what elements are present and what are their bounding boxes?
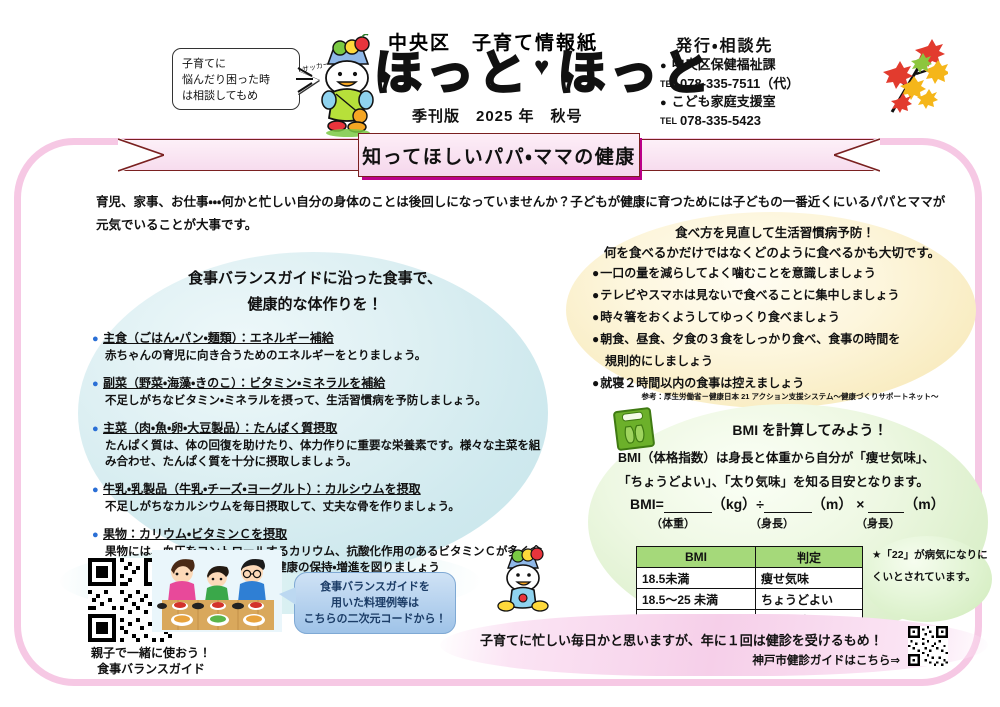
heart-icon: ♥: [530, 51, 557, 81]
contact-office-1-name: 中央区保健福祉課: [672, 57, 776, 72]
bmi-label-weight: （体重）: [630, 515, 716, 531]
section-ribbon: 知ってほしいパパ・ママの健康: [118, 133, 880, 177]
bmi-range-0: 18.5未満: [637, 568, 756, 589]
ribbon-notch-left-icon: [118, 137, 164, 173]
banner-title: 知ってほしいパパ・ママの健康: [362, 142, 636, 169]
food-item-head: ●主菜（肉・魚・卵・大豆製品）：たんぱく質摂取: [92, 420, 544, 438]
bmi-formula-labels: （体重）（身長）（身長）: [630, 515, 978, 531]
bmi-operator-multiply: ×: [856, 496, 864, 512]
food-guide-bubble-text: 食事バランスガイドを 用いた料理例等は こちらの二次元コードから！: [304, 579, 447, 627]
contact-title: 発行・相談先: [676, 32, 799, 56]
bullet-dot-icon: ●: [592, 288, 599, 302]
table-row: 18.5～25 未満 ちょうどよい: [637, 589, 863, 610]
duck-mascot-sitting-icon: [492, 546, 554, 618]
food-item-head: ●主食（ごはん・パン・麺類）：エネルギー補給: [92, 330, 544, 348]
eating-habits-lead: 何を食べるかだけではなくどのように食べるかも大切です。: [572, 242, 972, 261]
pin-icon: ●: [92, 421, 101, 438]
contact-tel-2-number: 078-335-5423: [680, 113, 761, 128]
eating-bullet-text: 朝食、昼食、夕食の３食をしっかり食べ、食事の時間を: [600, 332, 900, 346]
eating-bullet-text: 就寝２時間以内の食事は控えましょう: [600, 376, 804, 390]
family-meal-illustration: [152, 550, 282, 632]
bmi-unit-kg: （kg）: [712, 496, 756, 512]
pin-icon: ●: [92, 331, 101, 348]
bmi-title: BMI を計算してみよう！: [660, 420, 960, 440]
list-item: ●時々箸をおくようしてゆっくり食べましょう: [592, 306, 964, 328]
table-row: 18.5未満 痩せ気味: [637, 568, 863, 589]
telephone-icon: TEL: [660, 79, 677, 89]
contact-office-2-name: こども家庭支援室: [672, 94, 776, 109]
ribbon-center-panel: 知ってほしいパパ・ママの健康: [358, 133, 640, 177]
qr-caption-line2: 食事バランスガイド: [82, 661, 220, 677]
qr-caption: 親子で一緒に使おう！ 食事バランスガイド: [82, 645, 220, 677]
food-item-head: ●副菜（野菜・海藻・きのこ）：ビタミン・ミネラルを補給: [92, 375, 544, 393]
mascot-speech-bubble: 子育てに 悩んだり困った時 は相談してもめ: [172, 48, 300, 110]
food-item-body: 不足しがちなカルシウムを毎日摂取して、丈夫な骨を作りましょう。: [92, 499, 544, 515]
maple-leaves-icon: [878, 38, 948, 118]
bmi-formula-prefix: BMI=: [630, 496, 664, 512]
bmi-formula: BMI= （kg）÷ （m） × （m）: [630, 494, 970, 514]
mascot-speech-text: 子育てに 悩んだり困った時 は相談してもめ: [182, 56, 290, 104]
bottom-message: 子育てに忙しい毎日かと思いますが、年に１回は健診を受けるもめ！: [480, 630, 900, 649]
food-balance-title-line1: 食事バランスガイドに沿った食事で、: [100, 266, 530, 292]
contact-block: 発行・相談先 ●中央区保健福祉課 TEL078-335-7511（代） ●こども…: [660, 32, 799, 130]
bmi-note: ★「22」が病気になりにくいとされています。: [872, 544, 988, 588]
eating-bullet-text: 時々箸をおくようしてゆっくり食べましょう: [600, 310, 840, 324]
bmi-table-header-0: BMI: [637, 547, 756, 568]
food-balance-title-line2: 健康的な体作りを！: [100, 292, 530, 318]
bmi-judgment-1: ちょうどよい: [756, 589, 863, 610]
table-header-row: BMI 判定: [637, 547, 863, 568]
food-item-head-text: 主食（ごはん・パン・麺類）：エネルギー補給: [103, 331, 334, 345]
bmi-range-1: 18.5～25 未満: [637, 589, 756, 610]
eating-bullet-text: テレビやスマホは見ないで食べることに集中しましょう: [600, 288, 899, 302]
bmi-description: BMI（体格指数）は身長と体重から自分が「痩せ気味」、 「ちょうどよい」、「太り…: [618, 446, 974, 494]
food-item-body: たんぱく質は、体の回復を助けたり、体力作りに重要な栄養素です。様々な主菜を組み合…: [92, 438, 544, 470]
bmi-label-height1: （身長）: [716, 515, 828, 531]
list-item: ●一口の量を減らしてよく噛むことを意識しましょう: [592, 262, 964, 284]
bubble-line1: 食事バランスガイドを: [304, 579, 447, 595]
logo-left-text: ほっと: [374, 47, 530, 100]
contact-office-2: ●こども家庭支援室: [660, 93, 799, 112]
bmi-operator-divide: ÷: [756, 496, 764, 512]
bullet-dot-icon: ●: [592, 332, 599, 346]
food-item-head-text: 副菜（野菜・海藻・きのこ）：ビタミン・ミネラルを補給: [103, 376, 385, 390]
contact-tel-2: TEL078-335-5423: [660, 112, 799, 130]
bmi-desc-line2: 「ちょうどよい」、「太り気味」を知る目安となります。: [618, 470, 974, 494]
bmi-judgment-0: 痩せ気味: [756, 568, 863, 589]
food-item-head: ●果物：カリウム・ビタミンＣを摂取: [92, 526, 544, 544]
food-item-body: 赤ちゃんの育児に向き合うためのエネルギーをとりましょう。: [92, 348, 544, 364]
list-item: ●主菜（肉・魚・卵・大豆製品）：たんぱく質摂取 たんぱく質は、体の回復を助けたり…: [92, 420, 544, 470]
bmi-label-height2: （身長）: [828, 515, 928, 531]
food-item-head-text: 主菜（肉・魚・卵・大豆製品）：たんぱく質摂取: [103, 421, 337, 435]
pin-icon: ●: [92, 527, 101, 544]
food-item-head-text: 牛乳・乳製品（牛乳・チーズ・ヨーグルト）：カルシウムを摂取: [103, 482, 421, 496]
ribbon-notch-right-icon: [834, 137, 880, 173]
eating-habits-reference: 参考：厚生労働省－健康日本 21 アクション支援システム～健康づくりサポートネッ…: [620, 391, 960, 402]
bmi-unit-m-2: （m）: [904, 496, 944, 512]
pin-icon: ●: [92, 482, 101, 499]
contact-office-1: ●中央区保健福祉課: [660, 56, 799, 75]
food-item-body: 不足しがちなビタミン・ミネラルを摂って、生活習慣病を予防しましょう。: [92, 393, 544, 409]
list-item: ●副菜（野菜・海藻・きのこ）：ビタミン・ミネラルを補給 不足しがちなビタミン・ミ…: [92, 375, 544, 409]
eating-bullet-continuation: 規則的にしましょう: [592, 350, 964, 372]
bubble-line3: こちらの二次元コードから！: [304, 611, 447, 627]
eating-habits-title: 食べ方を見直して生活習慣病予防！: [600, 222, 950, 241]
food-item-head-text: 果物：カリウム・ビタミンＣを摂取: [103, 527, 287, 541]
bullet-dot-icon: ●: [592, 266, 599, 280]
speech-bubble-tail: [279, 587, 296, 605]
bottom-sub-message: 神戸市健診ガイドはこちら⇒: [480, 652, 900, 668]
contact-tel-1: TEL078-335-7511（代）: [660, 75, 799, 93]
bmi-height2-blank[interactable]: [868, 496, 904, 513]
issue-label: 季刊版 2025 年 秋号: [412, 105, 583, 126]
food-guide-speech-bubble: 食事バランスガイドを 用いた料理例等は こちらの二次元コードから！: [294, 572, 456, 634]
contact-tel-1-number: 078-335-7511（代）: [680, 76, 799, 91]
bullet-dot-icon: ●: [592, 376, 599, 390]
food-balance-title: 食事バランスガイドに沿った食事で、 健康的な体作りを！: [100, 266, 530, 318]
bmi-weight-blank[interactable]: [664, 496, 712, 513]
bmi-desc-line1: BMI（体格指数）は身長と体重から自分が「痩せ気味」、: [618, 446, 974, 470]
bullet-dot-icon: ●: [660, 97, 667, 109]
eating-bullet-text: 一口の量を減らしてよく噛むことを意識しましょう: [600, 266, 876, 280]
newsletter-page: 中央区 子育て情報紙 ほっと♥ほっと 季刊版 2025 年 秋号 子育てに 悩ん…: [0, 0, 1000, 707]
food-item-head: ●牛乳・乳製品（牛乳・チーズ・ヨーグルト）：カルシウムを摂取: [92, 481, 544, 499]
list-item: ●朝食、昼食、夕食の３食をしっかり食べ、食事の時間を: [592, 328, 964, 350]
duck-mascot-icon: [300, 34, 396, 138]
list-item: ●主食（ごはん・パン・麺類）：エネルギー補給 赤ちゃんの育児に向き合うためのエネ…: [92, 330, 544, 364]
list-item: ●テレビやスマホは見ないで食べることに集中しましょう: [592, 284, 964, 306]
food-balance-list: ●主食（ごはん・パン・麺類）：エネルギー補給 赤ちゃんの育児に向き合うためのエネ…: [92, 330, 544, 587]
bmi-unit-m-1: （m）: [812, 496, 852, 512]
bubble-line2: 用いた料理例等は: [304, 595, 447, 611]
bullet-dot-icon: ●: [592, 310, 599, 324]
qr-caption-line1: 親子で一緒に使おう！: [82, 645, 220, 661]
bmi-table-header-1: 判定: [756, 547, 863, 568]
health-checkup-qr-code[interactable]: [908, 626, 948, 666]
telephone-icon: TEL: [660, 116, 677, 126]
list-item: ●牛乳・乳製品（牛乳・チーズ・ヨーグルト）：カルシウムを摂取 不足しがちなカルシ…: [92, 481, 544, 515]
bmi-height1-blank[interactable]: [764, 496, 812, 513]
bullet-dot-icon: ●: [660, 60, 667, 72]
pin-icon: ●: [92, 376, 101, 393]
eating-habits-list: ●一口の量を減らしてよく噛むことを意識しましょう ●テレビやスマホは見ないで食べ…: [592, 262, 964, 394]
